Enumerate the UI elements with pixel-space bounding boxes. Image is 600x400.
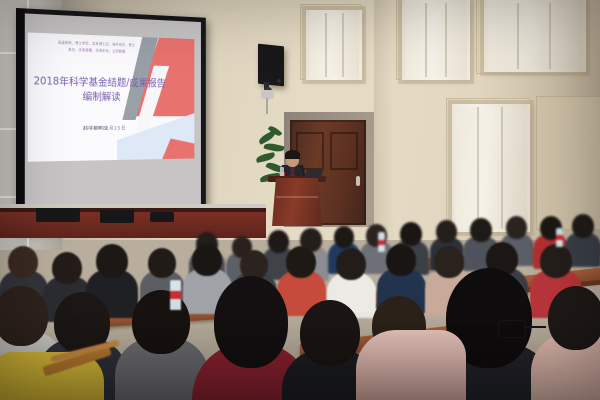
front-monitor bbox=[100, 210, 134, 223]
audience-member-head bbox=[300, 300, 360, 366]
audience-member-head bbox=[470, 218, 492, 242]
door-handle-icon[interactable] bbox=[356, 176, 360, 186]
audience-member-head bbox=[268, 230, 289, 253]
presentation-slide: 高级职称、博士学历、具有博士后、海外经历、博士 单位：评审周期、评审年份、立项数… bbox=[28, 32, 195, 161]
water-bottle bbox=[556, 228, 563, 247]
audience-member-head bbox=[8, 246, 38, 278]
water-bottle bbox=[170, 280, 181, 310]
slide-title-line-2: 编制解读 bbox=[32, 89, 168, 105]
audience-member-head bbox=[572, 214, 594, 238]
eyeglasses-temple bbox=[524, 326, 546, 328]
audience-member-head bbox=[540, 244, 572, 278]
podium-trim bbox=[276, 196, 318, 198]
presenter-laptop bbox=[305, 170, 323, 178]
eyeglasses-icon bbox=[498, 320, 526, 338]
wall-right-shading bbox=[480, 0, 600, 240]
camera-cable bbox=[266, 98, 268, 114]
audience-member-head bbox=[52, 252, 82, 284]
wall-speaker-icon bbox=[258, 44, 284, 87]
front-monitor bbox=[36, 206, 80, 222]
audience-member-head bbox=[334, 226, 354, 248]
lectern bbox=[272, 178, 322, 226]
water-bottle bbox=[378, 232, 385, 252]
audience-member-head bbox=[436, 220, 457, 243]
audience-member-head bbox=[148, 248, 176, 278]
slide-footer-date: 2018年12月25日 bbox=[83, 126, 163, 132]
audience-member-head bbox=[434, 246, 464, 278]
door-panel-left bbox=[296, 132, 324, 170]
wall-panel bbox=[306, 10, 362, 80]
pink-puffer-jacket bbox=[356, 330, 466, 400]
lecture-hall-photo: 高级职称、博士学历、具有博士后、海外经历、博士 单位：评审周期、评审年份、立项数… bbox=[0, 0, 600, 400]
barrier-ledge bbox=[0, 204, 266, 208]
audience-member-head bbox=[386, 244, 416, 276]
projection-screen: 高级职称、博士学历、具有博士后、海外经历、博士 单位：评审周期、评审年份、立项数… bbox=[16, 8, 206, 230]
door-panel-right bbox=[330, 132, 358, 170]
audience-member-head bbox=[192, 244, 222, 276]
screen-left-edge bbox=[16, 8, 25, 230]
wall-corner-shadow bbox=[374, 0, 394, 240]
audience-member-head bbox=[548, 286, 600, 350]
audience-member-head bbox=[0, 286, 48, 346]
audience-member-head bbox=[96, 244, 128, 278]
audience-member-head bbox=[400, 222, 422, 246]
audience-member-head bbox=[214, 276, 288, 368]
audience-member-head bbox=[506, 216, 527, 239]
front-monitor bbox=[150, 212, 174, 222]
presenter-hair bbox=[285, 150, 300, 159]
audience-member-head bbox=[286, 246, 316, 278]
wall-panel bbox=[402, 0, 470, 80]
audience-member-head bbox=[132, 290, 190, 354]
audience-member-head bbox=[336, 248, 366, 280]
